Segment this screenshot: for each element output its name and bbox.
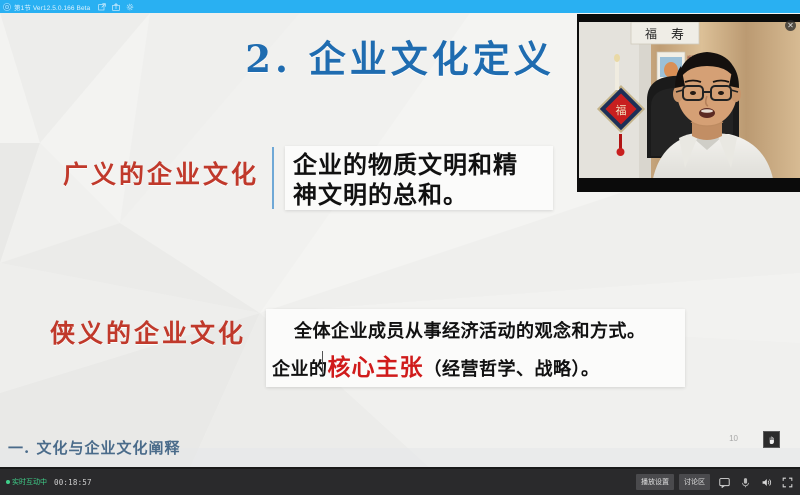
microphone-icon[interactable] — [738, 475, 752, 489]
playback-settings-button[interactable]: 播放设置 — [636, 474, 674, 490]
slide-page-number: 10 — [729, 434, 738, 443]
broad-definition-line-1: 企业的物质文明和精 — [293, 150, 545, 180]
broad-definition-line-2: 神文明的总和。 — [293, 180, 545, 210]
slide-footer-heading: 一. 文化与企业文化阐释 — [8, 437, 180, 458]
narrow-line2-prefix: 企业的 — [272, 359, 328, 380]
playback-progress-bar[interactable] — [0, 467, 800, 469]
broad-definition-box[interactable]: 企业的物质文明和精 神文明的总和。 — [285, 146, 553, 210]
svg-text:福: 福 — [616, 103, 627, 117]
narrow-definition-line-1: 全体企业成员从事经济活动的观念和方式。 — [272, 314, 679, 350]
svg-text:寿: 寿 — [671, 28, 684, 43]
narrow-line2-emphasis: 核心主张 — [328, 354, 424, 381]
vertical-divider — [272, 147, 274, 209]
share-export-icon[interactable] — [110, 1, 121, 12]
narrow-definition-line-2: 企业的核心主张（经营哲学、战略）。 — [272, 350, 679, 388]
presenter-video-overlay[interactable]: 福 寿 福寿 福 — [577, 14, 800, 192]
settings-gear-icon[interactable] — [124, 1, 135, 12]
hand-cursor-icon[interactable] — [763, 431, 780, 448]
recording-status: 实时互动中 — [6, 477, 47, 487]
svg-text:福: 福 — [645, 26, 657, 41]
window-title: 第1节 Ver12.5.0.166 Beta — [14, 2, 90, 12]
discussion-button[interactable]: 讨论区 — [679, 474, 710, 490]
presenter-video-frame: 福 寿 福寿 福 — [579, 14, 800, 192]
recording-dot-icon — [6, 480, 10, 484]
window-title-bar: 第1节 Ver12.5.0.166 Beta — [0, 0, 800, 13]
broad-definition-label: 广义的企业文化 — [63, 155, 259, 191]
text-caret — [322, 351, 323, 375]
screen-root: 第1节 Ver12.5.0.166 Beta — [0, 0, 800, 495]
narrow-definition-box[interactable]: 全体企业成员从事经济活动的观念和方式。 企业的核心主张（经营哲学、战略）。 — [266, 309, 685, 387]
playback-timecode: 00:18:57 — [54, 478, 92, 487]
player-control-bar: 实时互动中 00:18:57 播放设置 讨论区 — [0, 468, 800, 495]
recording-label: 实时互动中 — [12, 477, 47, 487]
narrow-line2-suffix: （经营哲学、战略）。 — [424, 359, 600, 380]
speaker-volume-icon[interactable] — [759, 475, 773, 489]
app-logo-icon — [3, 3, 11, 11]
fullscreen-icon[interactable] — [780, 475, 794, 489]
close-icon[interactable]: ✕ — [785, 20, 796, 31]
chat-bubble-icon[interactable] — [717, 475, 731, 489]
narrow-definition-label: 侠义的企业文化 — [50, 314, 246, 350]
edit-export-icon[interactable] — [96, 1, 107, 12]
